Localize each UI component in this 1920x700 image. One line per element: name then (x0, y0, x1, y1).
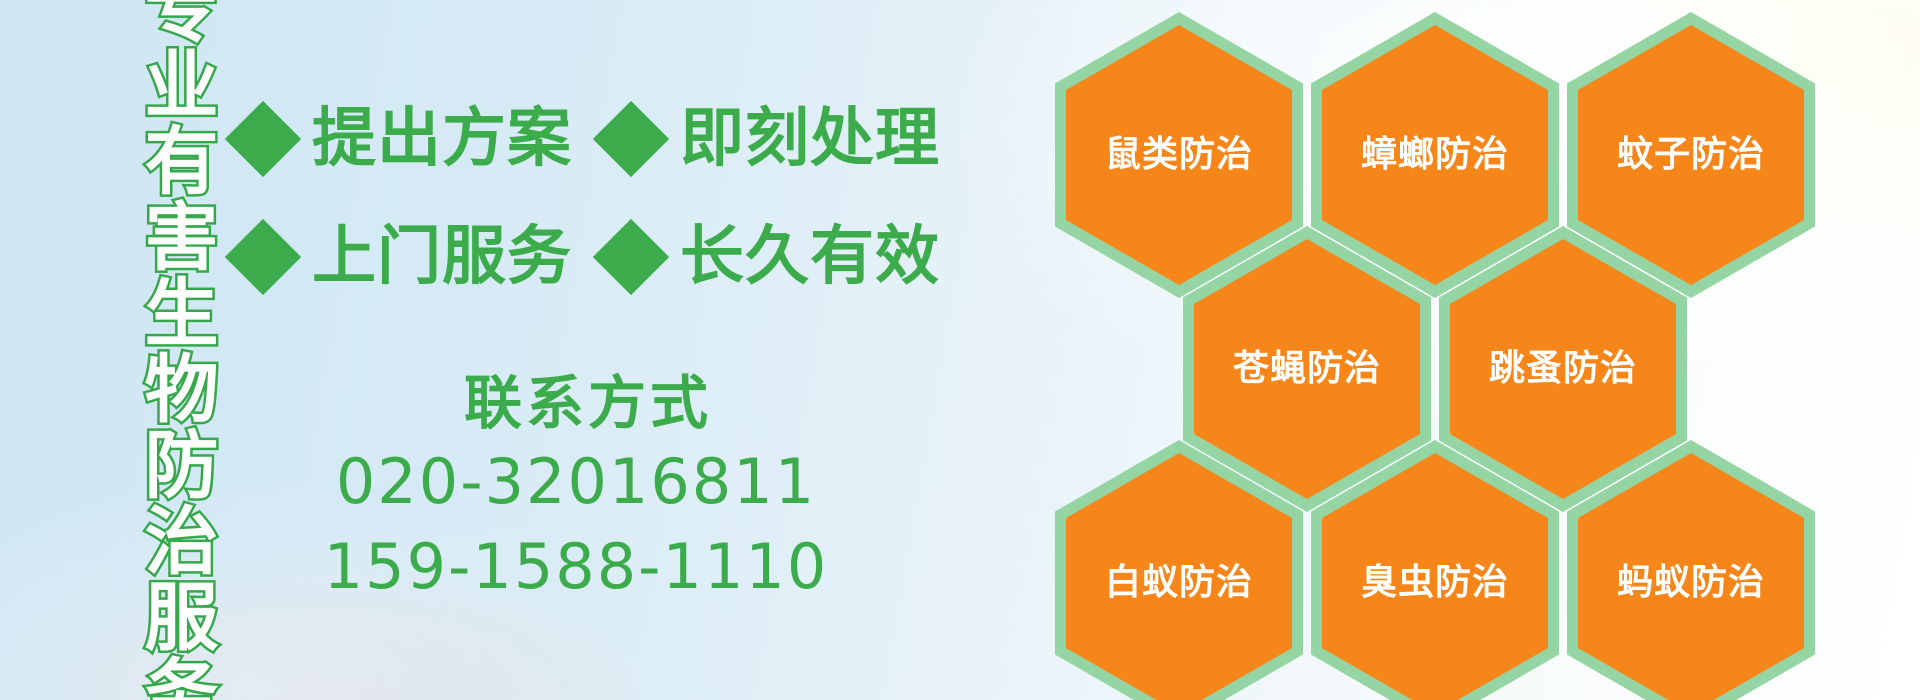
service-hexagon-grid: 鼠类防治 蟑螂防治 蚊子防治 苍蝇防治 跳蚤防治 (1055, 0, 1815, 700)
feature-item-door-to-door-service: 上门服务 (236, 225, 572, 289)
vertical-headline: 专业有害生物防治服务 (108, 8, 212, 692)
hex-label: 蚊子防治 (1617, 137, 1765, 173)
hex-cell-ant-control[interactable]: 蚂蚁防治 (1567, 440, 1815, 700)
hex-label: 跳蚤防治 (1489, 351, 1637, 387)
feature-label: 提出方案 (312, 107, 572, 171)
hex-label: 苍蝇防治 (1233, 351, 1381, 387)
diamond-icon (593, 219, 669, 295)
diamond-icon (225, 219, 301, 295)
feature-label: 长久有效 (680, 225, 940, 289)
hex-cell-termite-control[interactable]: 白蚁防治 (1055, 440, 1303, 700)
contact-phone-mobile[interactable]: 159-1588-1110 (236, 527, 916, 606)
hex-cell-bedbug-control[interactable]: 臭虫防治 (1311, 440, 1559, 700)
feature-row: 上门服务 长久有效 (236, 198, 896, 316)
hex-label: 白蚁防治 (1105, 565, 1253, 601)
hex-label: 蚂蚁防治 (1617, 565, 1765, 601)
contact-phone-landline[interactable]: 020-32016811 (236, 442, 916, 521)
hex-label: 臭虫防治 (1361, 565, 1509, 601)
feature-label: 即刻处理 (680, 107, 940, 171)
diamond-icon (593, 101, 669, 177)
feature-item-long-lasting-effect: 长久有效 (604, 225, 940, 289)
hex-label: 蟑螂防治 (1361, 137, 1509, 173)
diamond-icon (225, 101, 301, 177)
feature-row: 提出方案 即刻处理 (236, 80, 896, 198)
feature-item-immediate-handling: 即刻处理 (604, 107, 940, 171)
contact-block: 联系方式 020-32016811 159-1588-1110 (236, 372, 916, 607)
feature-item-propose-plan: 提出方案 (236, 107, 572, 171)
promo-banner: 专业有害生物防治服务 提出方案 即刻处理 上门服务 长久有效 联 (0, 0, 1920, 700)
feature-list: 提出方案 即刻处理 上门服务 长久有效 (236, 80, 896, 316)
hex-label: 鼠类防治 (1105, 137, 1253, 173)
contact-heading: 联系方式 (260, 372, 916, 436)
feature-label: 上门服务 (312, 225, 572, 289)
